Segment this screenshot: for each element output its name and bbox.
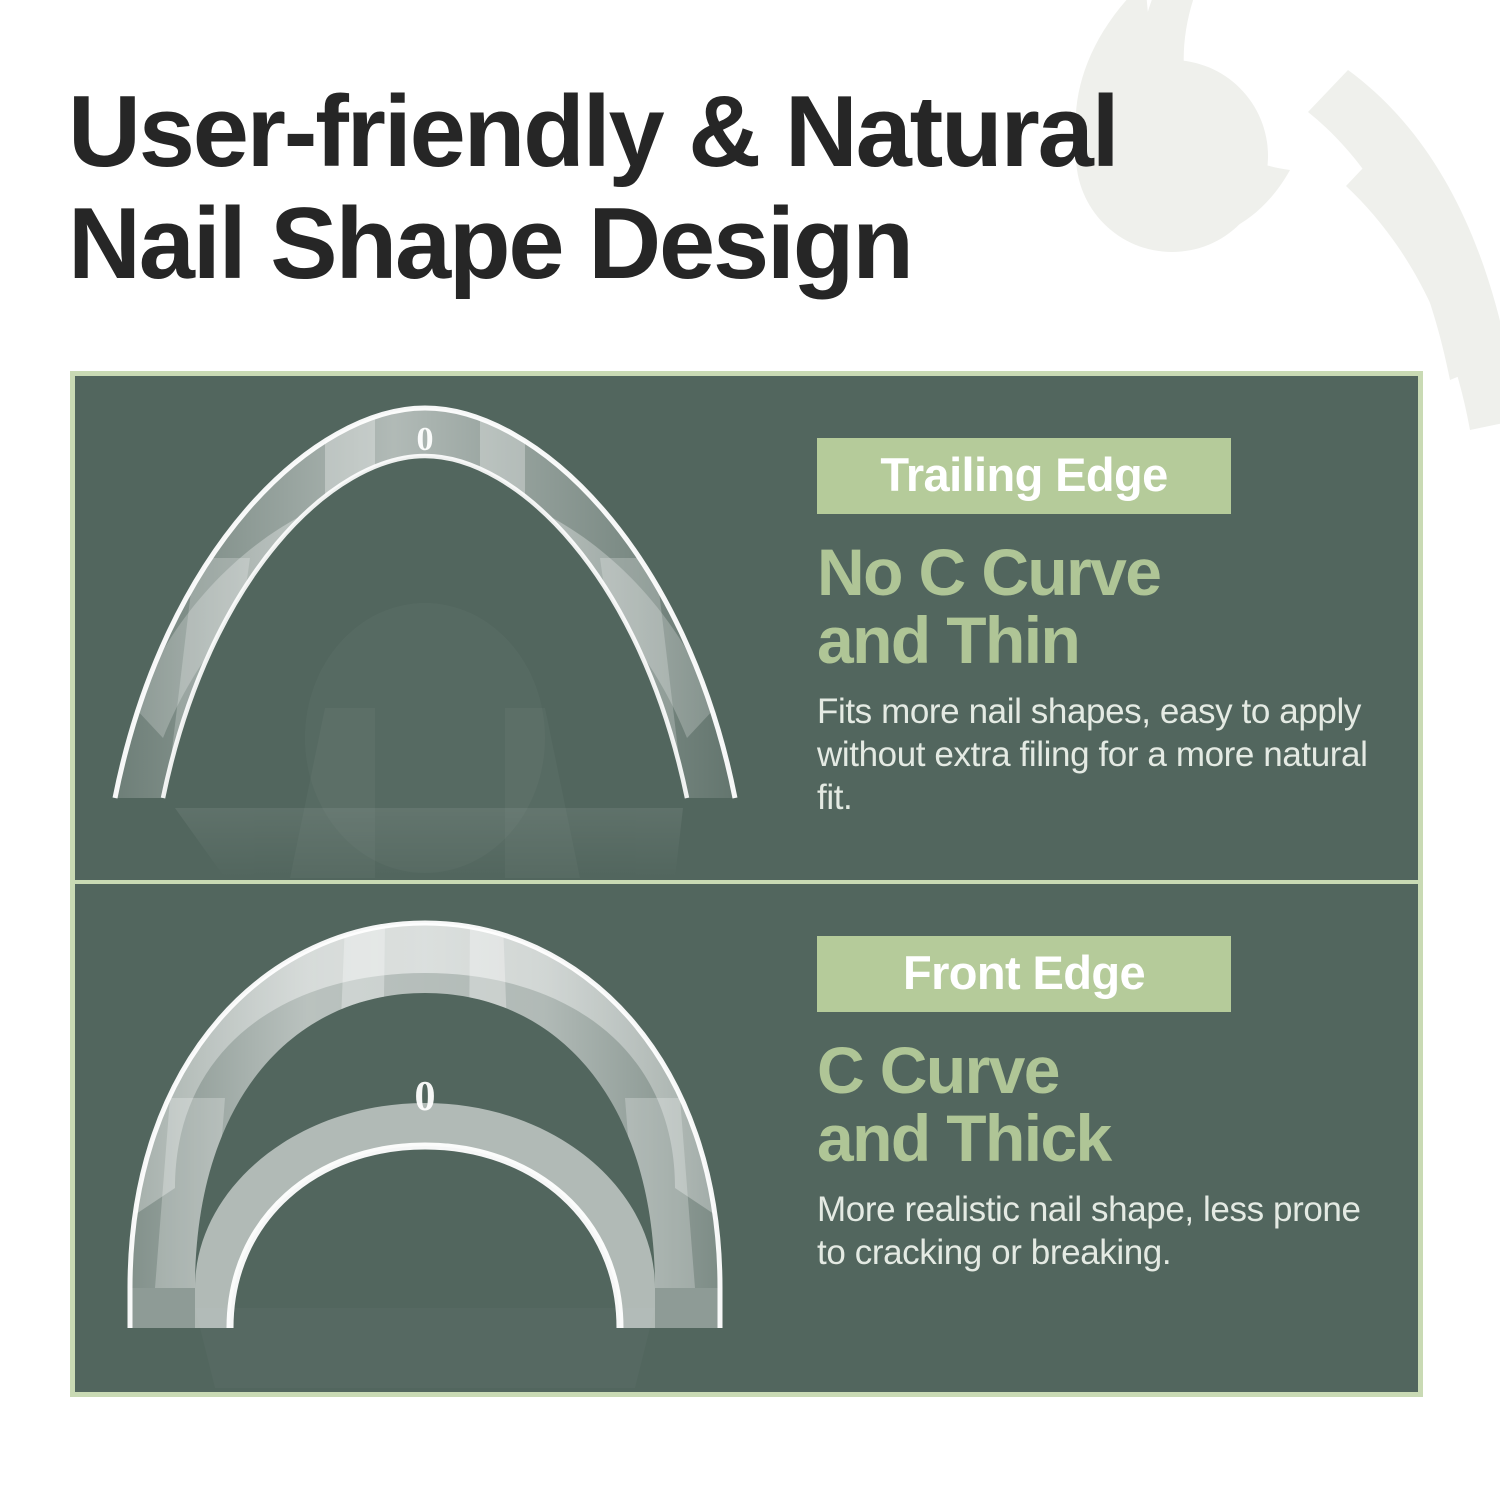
- product-figure-front-edge: 0: [75, 884, 775, 1392]
- headline-line-2: and Thick: [817, 1104, 1378, 1172]
- product-size-marking: 0: [415, 1074, 436, 1120]
- badge-trailing-edge: Trailing Edge: [817, 438, 1231, 514]
- body-copy-front-edge: More realistic nail shape, less prone to…: [817, 1188, 1378, 1274]
- feature-text-front-edge: Front Edge C Curve and Thick More realis…: [775, 884, 1418, 1392]
- headline-line-1: No C Curve: [817, 538, 1378, 606]
- badge-front-edge: Front Edge: [817, 936, 1231, 1012]
- headline-line-2: and Thin: [817, 606, 1378, 674]
- feature-row-trailing-edge: 0 Trailing Edge No C Curve and Thin Fits…: [75, 376, 1418, 884]
- headline-trailing-edge: No C Curve and Thin: [817, 538, 1378, 674]
- feature-text-trailing-edge: Trailing Edge No C Curve and Thin Fits m…: [775, 376, 1418, 880]
- feature-row-front-edge: 0 Front Edge C Curve and Thick More real…: [75, 884, 1418, 1392]
- page-title-line-1: User-friendly & Natural: [68, 76, 1468, 188]
- body-copy-trailing-edge: Fits more nail shapes, easy to apply wit…: [817, 690, 1378, 819]
- product-figure-trailing-edge: 0: [75, 376, 775, 880]
- feature-comparison-card: 0 Trailing Edge No C Curve and Thin Fits…: [70, 371, 1423, 1397]
- page-title: User-friendly & Natural Nail Shape Desig…: [68, 76, 1468, 300]
- headline-front-edge: C Curve and Thick: [817, 1036, 1378, 1172]
- headline-line-1: C Curve: [817, 1036, 1378, 1104]
- product-size-marking: 0: [417, 421, 434, 458]
- page-title-line-2: Nail Shape Design: [68, 188, 1468, 300]
